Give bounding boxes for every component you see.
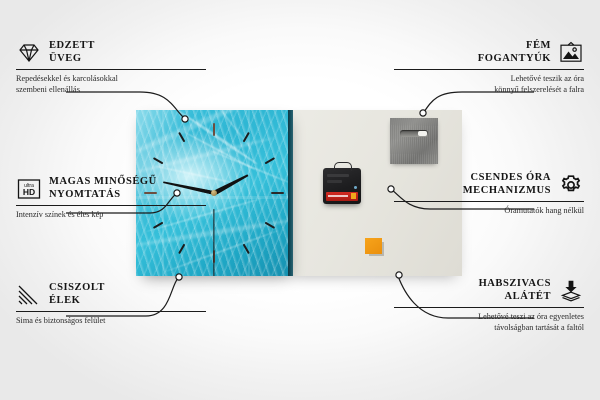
callout-desc-line2: könnyű felszerelését a falra xyxy=(494,85,584,94)
hanger-slot xyxy=(400,130,428,137)
connector-handles xyxy=(424,92,534,112)
mechanism-detail xyxy=(327,174,349,177)
callout-rule xyxy=(394,307,584,308)
callout-title-line1: MAGAS MINŐSÉGŰ xyxy=(49,176,157,187)
callout-rule xyxy=(16,205,206,206)
callout-title-line2: ÉLEK xyxy=(49,295,80,306)
foam-spacer-pad xyxy=(365,238,382,254)
callout-title-line1: HABSZIVACS xyxy=(479,278,551,289)
callout-desc-line1: Sima és biztonságos felület xyxy=(16,316,105,325)
callout-title-line2: FOGANTYÚK xyxy=(478,53,551,64)
callout-title-line1: CSISZOLT xyxy=(49,282,105,293)
mechanism-dot xyxy=(354,186,357,189)
callout-desc-line1: Repedésekkel és karcolásokkal xyxy=(16,74,118,83)
callout-title-line2: MECHANIZMUS xyxy=(463,185,551,196)
callout-title-line1: FÉM xyxy=(526,40,551,51)
callout-title-line1: CSENDES ÓRA xyxy=(471,172,551,183)
callout-high-quality-print[interactable]: ultra HD MAGAS MINŐSÉGŰ NYOMTATÁS Intenz… xyxy=(16,176,206,221)
callout-rule xyxy=(16,69,206,70)
mechanism-detail xyxy=(327,180,342,183)
diamond-icon xyxy=(16,41,42,65)
callout-rule xyxy=(16,311,206,312)
callout-desc-line1: Lehetővé teszi az óra egyenletes xyxy=(478,312,584,321)
callout-desc-line1: Lehetővé teszik az óra xyxy=(511,74,584,83)
gear-icon xyxy=(558,173,584,197)
callout-metal-handles[interactable]: FÉM FOGANTYÚK Lehetővé teszik az óra kön… xyxy=(394,40,584,95)
callout-title-line2: ALÁTÉT xyxy=(505,291,551,302)
picture-hanger-icon xyxy=(558,41,584,65)
callout-desc-line2: szembeni ellenállás xyxy=(16,85,80,94)
infographic-canvas: EDZETT ÜVEG Repedésekkel és karcolásokka… xyxy=(0,0,600,400)
callout-desc-line2: távolságban tartását a faltól xyxy=(494,323,584,332)
foam-pad-arrow-icon xyxy=(558,279,584,303)
metal-hanger-plate xyxy=(390,118,438,164)
polished-edge-icon xyxy=(16,283,42,307)
callout-title-line2: ÜVEG xyxy=(49,53,82,64)
clock-center-cap xyxy=(211,190,217,196)
callout-silent-mechanism[interactable]: CSENDES ÓRA MECHANIZMUS Óramutatók hang … xyxy=(394,172,584,217)
glass-edge xyxy=(288,110,293,276)
callout-polished-edges[interactable]: CSISZOLT ÉLEK Sima és biztonságos felüle… xyxy=(16,282,206,327)
callout-desc-line1: Intenzív színek és éles kép xyxy=(16,210,103,219)
callout-title-line1: EDZETT xyxy=(49,40,95,51)
callout-foam-pad[interactable]: HABSZIVACS ALÁTÉT Lehetővé teszi az óra … xyxy=(394,278,584,333)
callout-rule xyxy=(394,201,584,202)
callout-desc-line1: Óramutatók hang nélkül xyxy=(504,206,584,215)
ultra-hd-icon: ultra HD xyxy=(16,177,42,201)
svg-text:HD: HD xyxy=(23,187,35,197)
quartz-mechanism xyxy=(323,168,361,204)
callout-title-line2: NYOMTATÁS xyxy=(49,189,121,200)
mechanism-label xyxy=(326,192,358,201)
callout-tempered-glass[interactable]: EDZETT ÜVEG Repedésekkel és karcolásokka… xyxy=(16,40,206,95)
callout-rule xyxy=(394,69,584,70)
mechanism-handle xyxy=(334,162,352,171)
